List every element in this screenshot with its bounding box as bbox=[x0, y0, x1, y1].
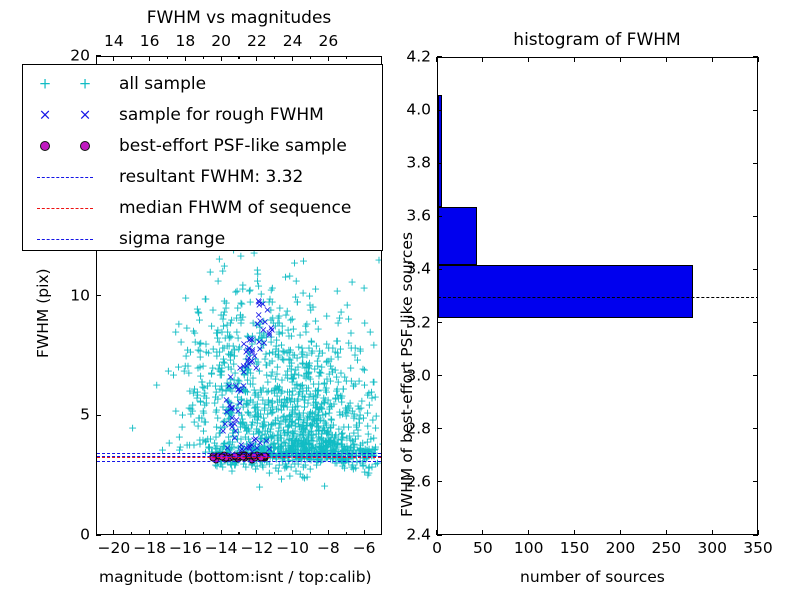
left-xtick-minor bbox=[203, 532, 204, 535]
scatter-point-all-sample: + bbox=[181, 360, 190, 371]
scatter-point-all-sample: + bbox=[251, 402, 260, 413]
right-ytick-mirror bbox=[753, 534, 758, 535]
left-xtick-top-minor bbox=[274, 56, 275, 59]
left-xtick-bottom bbox=[149, 530, 150, 535]
scatter-point-all-sample: + bbox=[253, 265, 262, 276]
left-xtick-top-minor bbox=[203, 56, 204, 59]
right-ytick bbox=[437, 56, 442, 57]
scatter-point-rough-sample: × bbox=[250, 436, 258, 446]
right-ytick bbox=[437, 534, 442, 535]
scatter-point-all-sample: + bbox=[339, 384, 348, 395]
left-xtick-label: −6 bbox=[353, 541, 376, 557]
left-xtick-top-label: 14 bbox=[104, 34, 124, 50]
scatter-point-all-sample: + bbox=[194, 412, 203, 423]
right-xtick bbox=[712, 530, 713, 535]
right-ytick-mirror bbox=[753, 269, 758, 270]
left-xtick-label: −20 bbox=[98, 541, 131, 557]
left-y-axis-label: FWHM (pix) bbox=[34, 268, 52, 358]
scatter-point-all-sample: + bbox=[268, 395, 277, 406]
scatter-point-rough-sample: × bbox=[255, 298, 263, 308]
left-xtick-label: −8 bbox=[317, 541, 340, 557]
left-xtick-top bbox=[328, 56, 329, 61]
scatter-point-all-sample: + bbox=[203, 380, 212, 391]
scatter-point-all-sample: + bbox=[195, 439, 204, 450]
left-xtick-bottom bbox=[221, 530, 222, 535]
scatter-point-all-sample: + bbox=[218, 266, 227, 277]
legend-entry[interactable]: resultant FWHM: 3.32 bbox=[23, 161, 382, 192]
scatter-point-all-sample: + bbox=[204, 348, 213, 359]
scatter-point-all-sample: + bbox=[346, 328, 355, 339]
scatter-point-all-sample: + bbox=[315, 426, 324, 437]
right-ytick-mirror bbox=[753, 322, 758, 323]
legend-entry-label: best-effort PSF-like sample bbox=[119, 136, 347, 156]
right-ytick-mirror bbox=[753, 110, 758, 111]
scatter-point-all-sample: + bbox=[255, 481, 264, 492]
left-xtick-top-label: 22 bbox=[247, 34, 267, 50]
scatter-point-all-sample: + bbox=[184, 402, 193, 413]
left-xtick-label: −18 bbox=[133, 541, 166, 557]
left-xtick-top-minor bbox=[131, 56, 132, 59]
right-xtick bbox=[666, 530, 667, 535]
scatter-point-all-sample: + bbox=[279, 436, 288, 447]
legend-entry-label: sigma range bbox=[119, 229, 225, 249]
left-ytick bbox=[96, 415, 101, 416]
left-ytick-label: 20 bbox=[56, 48, 90, 64]
left-xtick-top bbox=[149, 56, 150, 61]
scatter-point-all-sample: + bbox=[236, 298, 245, 309]
scatter-point-all-sample: + bbox=[299, 255, 308, 266]
right-xtick bbox=[574, 530, 575, 535]
right-ytick-mirror bbox=[753, 216, 758, 217]
scatter-point-all-sample: + bbox=[344, 421, 353, 432]
scatter-point-all-sample: + bbox=[288, 415, 297, 426]
legend-entry[interactable]: ++all sample bbox=[23, 68, 382, 99]
right-xtick-top bbox=[528, 57, 529, 62]
scatter-point-all-sample: + bbox=[282, 394, 291, 405]
right-ytick bbox=[437, 216, 442, 217]
right-xtick-label: 100 bbox=[514, 541, 544, 557]
scatter-point-all-sample: + bbox=[288, 349, 297, 360]
scatter-point-all-sample: + bbox=[226, 318, 235, 329]
right-ytick bbox=[437, 375, 442, 376]
scatter-point-all-sample: + bbox=[208, 304, 217, 315]
scatter-point-rough-sample: × bbox=[227, 420, 235, 430]
legend-entry[interactable]: median FHWM of sequence bbox=[23, 192, 382, 223]
right-ytick-label: 2.4 bbox=[389, 527, 431, 543]
scatter-point-all-sample: + bbox=[322, 338, 331, 349]
right-xtick-top bbox=[712, 57, 713, 62]
scatter-point-all-sample: + bbox=[236, 314, 245, 325]
scatter-point-all-sample: + bbox=[366, 327, 375, 338]
scatter-point-all-sample: + bbox=[262, 369, 271, 380]
right-ytick-label: 3.8 bbox=[389, 155, 431, 171]
right-ytick-mirror bbox=[753, 428, 758, 429]
scatter-point-all-sample: + bbox=[365, 400, 374, 411]
scatter-point-all-sample: + bbox=[223, 341, 232, 352]
right-plot-data-area bbox=[438, 58, 757, 534]
sigma-range-lower-line bbox=[97, 461, 381, 462]
scatter-point-all-sample: + bbox=[257, 387, 266, 398]
left-xtick-bottom bbox=[292, 530, 293, 535]
left-xtick-bottom bbox=[113, 530, 114, 535]
scatter-point-all-sample: + bbox=[306, 305, 315, 316]
scatter-point-all-sample: + bbox=[293, 297, 302, 308]
scatter-point-all-sample: + bbox=[359, 282, 368, 293]
left-xtick-minor bbox=[310, 532, 311, 535]
legend-circle-icon bbox=[40, 141, 50, 151]
right-ytick bbox=[437, 163, 442, 164]
scatter-point-all-sample: + bbox=[169, 370, 178, 381]
right-xtick-label: 300 bbox=[697, 541, 727, 557]
right-xtick-label: 250 bbox=[651, 541, 681, 557]
legend-entry-label: sample for rough FWHM bbox=[119, 105, 324, 125]
legend-cross-icon: × bbox=[79, 107, 92, 122]
scatter-point-all-sample: + bbox=[194, 307, 203, 318]
scatter-point-all-sample: + bbox=[181, 293, 190, 304]
left-ytick-label: 10 bbox=[56, 288, 90, 304]
left-ytick-label: 5 bbox=[56, 408, 90, 424]
scatter-point-all-sample: + bbox=[238, 280, 247, 291]
legend-entry[interactable]: ××sample for rough FWHM bbox=[23, 99, 382, 130]
scatter-point-all-sample: + bbox=[185, 385, 194, 396]
right-xtick-top bbox=[482, 57, 483, 62]
scatter-point-all-sample: + bbox=[128, 423, 137, 434]
right-xtick-label: 200 bbox=[606, 541, 636, 557]
right-ytick bbox=[437, 269, 442, 270]
scatter-point-all-sample: + bbox=[333, 438, 342, 449]
left-xtick-bottom bbox=[328, 530, 329, 535]
histogram-bar bbox=[438, 207, 477, 265]
scatter-point-all-sample: + bbox=[302, 318, 311, 329]
left-xtick-label: −16 bbox=[169, 541, 202, 557]
legend-cross-icon: × bbox=[39, 107, 52, 122]
scatter-point-all-sample: + bbox=[333, 286, 342, 297]
scatter-point-all-sample: + bbox=[189, 325, 198, 336]
scatter-point-all-sample: + bbox=[314, 350, 323, 361]
scatter-point-all-sample: + bbox=[322, 310, 331, 321]
scatter-point-all-sample: + bbox=[290, 257, 299, 268]
scatter-point-all-sample: + bbox=[309, 400, 318, 411]
scatter-point-rough-sample: × bbox=[236, 399, 244, 409]
scatter-point-all-sample: + bbox=[369, 339, 378, 350]
scatter-point-all-sample: + bbox=[350, 410, 359, 421]
scatter-point-all-sample: + bbox=[343, 299, 352, 310]
right-ytick-mirror bbox=[753, 375, 758, 376]
scatter-point-all-sample: + bbox=[221, 303, 230, 314]
left-xtick-bottom bbox=[185, 530, 186, 535]
left-xtick-minor bbox=[238, 532, 239, 535]
left-xtick-top bbox=[113, 56, 114, 61]
right-x-axis-label: number of sources bbox=[520, 568, 665, 586]
right-ytick-label: 2.6 bbox=[389, 474, 431, 490]
scatter-point-all-sample: + bbox=[178, 422, 187, 433]
right-ytick-label: 4.0 bbox=[389, 102, 431, 118]
scatter-point-all-sample: + bbox=[311, 284, 320, 295]
right-xtick-top bbox=[757, 57, 758, 62]
right-ytick bbox=[437, 322, 442, 323]
scatter-point-all-sample: + bbox=[369, 445, 378, 456]
scatter-point-all-sample: + bbox=[278, 328, 287, 339]
right-ytick bbox=[437, 481, 442, 482]
left-ytick bbox=[96, 534, 101, 535]
legend-entry-label: all sample bbox=[119, 74, 206, 94]
left-xtick-minor bbox=[346, 532, 347, 535]
left-xtick-top bbox=[292, 56, 293, 61]
right-ytick-mirror bbox=[753, 56, 758, 57]
left-xtick-top bbox=[185, 56, 186, 61]
legend-box[interactable]: ++all sample××sample for rough FWHMbest-… bbox=[22, 64, 383, 251]
right-xtick-top bbox=[666, 57, 667, 62]
right-plot-axes[interactable] bbox=[437, 57, 758, 535]
left-ytick-label: 0 bbox=[56, 527, 90, 543]
right-ytick bbox=[437, 110, 442, 111]
right-ytick-mirror bbox=[753, 163, 758, 164]
left-xtick-label: −10 bbox=[276, 541, 309, 557]
scatter-point-rough-sample: × bbox=[263, 306, 271, 316]
scatter-point-all-sample: + bbox=[300, 473, 309, 484]
left-ytick bbox=[96, 55, 101, 56]
legend-dashed-line-icon bbox=[37, 177, 93, 178]
scatter-point-all-sample: + bbox=[296, 437, 305, 448]
scatter-point-all-sample: + bbox=[320, 480, 329, 491]
scatter-point-all-sample: + bbox=[152, 379, 161, 390]
right-ytick-label: 3.6 bbox=[389, 209, 431, 225]
scatter-point-all-sample: + bbox=[185, 440, 194, 451]
scatter-point-all-sample: + bbox=[340, 372, 349, 383]
left-xtick-label: −12 bbox=[241, 541, 274, 557]
scatter-point-all-sample: + bbox=[286, 315, 295, 326]
scatter-point-rough-sample: × bbox=[248, 346, 256, 356]
left-xtick-bottom bbox=[256, 530, 257, 535]
right-xtick-label: 150 bbox=[560, 541, 590, 557]
scatter-point-rough-sample: × bbox=[236, 364, 244, 374]
left-xtick-minor bbox=[274, 532, 275, 535]
left-plot-title: FWHM vs magnitudes bbox=[147, 8, 332, 28]
scatter-point-rough-sample: × bbox=[225, 382, 233, 392]
scatter-point-all-sample: + bbox=[314, 384, 323, 395]
legend-dashed-line-icon bbox=[37, 208, 93, 209]
left-xtick-top-minor bbox=[238, 56, 239, 59]
legend-entry[interactable]: best-effort PSF-like sample bbox=[23, 130, 382, 161]
scatter-point-all-sample: + bbox=[298, 420, 307, 431]
scatter-point-all-sample: + bbox=[360, 365, 369, 376]
scatter-point-all-sample: + bbox=[364, 468, 373, 479]
left-xtick-top-label: 20 bbox=[211, 34, 231, 50]
sigma-range-upper-line bbox=[97, 453, 381, 454]
scatter-point-all-sample: + bbox=[348, 277, 357, 288]
histogram-median-line bbox=[438, 297, 757, 298]
right-ytick-label: 3.4 bbox=[389, 262, 431, 278]
right-plot-title: histogram of FWHM bbox=[513, 30, 680, 50]
left-ytick bbox=[96, 295, 101, 296]
legend-circle-icon bbox=[80, 141, 90, 151]
scatter-point-rough-sample: × bbox=[236, 387, 244, 397]
left-xtick-label: −14 bbox=[205, 541, 238, 557]
right-xtick-top bbox=[620, 57, 621, 62]
legend-plus-icon: + bbox=[39, 76, 52, 91]
scatter-point-rough-sample: × bbox=[260, 339, 268, 349]
right-xtick bbox=[528, 530, 529, 535]
scatter-point-all-sample: + bbox=[363, 420, 372, 431]
right-ytick-label: 3.2 bbox=[389, 315, 431, 331]
scatter-point-all-sample: + bbox=[316, 367, 325, 378]
legend-entry[interactable]: sigma range bbox=[23, 223, 382, 254]
scatter-point-all-sample: + bbox=[193, 362, 202, 373]
left-x-axis-label: magnitude (bottom:isnt / top:calib) bbox=[99, 568, 372, 586]
right-xtick-label: 0 bbox=[432, 541, 442, 557]
scatter-point-all-sample: + bbox=[349, 380, 358, 391]
scatter-point-all-sample: + bbox=[268, 283, 277, 294]
scatter-point-all-sample: + bbox=[350, 349, 359, 360]
right-ytick-mirror bbox=[753, 481, 758, 482]
left-xtick-top-minor bbox=[310, 56, 311, 59]
legend-entry-label: resultant FWHM: 3.32 bbox=[119, 167, 303, 187]
right-xtick-top bbox=[436, 57, 437, 62]
legend-entry-label: median FHWM of sequence bbox=[119, 198, 351, 218]
left-xtick-top-label: 16 bbox=[140, 34, 160, 50]
scatter-point-all-sample: + bbox=[356, 445, 365, 456]
left-xtick-top-label: 24 bbox=[283, 34, 303, 50]
scatter-point-all-sample: + bbox=[177, 337, 186, 348]
left-xtick-top-label: 18 bbox=[176, 34, 196, 50]
scatter-point-all-sample: + bbox=[285, 270, 294, 281]
scatter-point-all-sample: + bbox=[304, 367, 313, 378]
right-xtick-label: 50 bbox=[473, 541, 493, 557]
right-xtick bbox=[620, 530, 621, 535]
scatter-point-all-sample: + bbox=[202, 397, 211, 408]
scatter-point-all-sample: + bbox=[165, 437, 174, 448]
right-ytick bbox=[437, 428, 442, 429]
left-xtick-top bbox=[256, 56, 257, 61]
histogram-bar bbox=[438, 95, 442, 207]
right-ytick-label: 4.2 bbox=[389, 49, 431, 65]
scatter-point-all-sample: + bbox=[265, 467, 274, 478]
median-fhwm-line bbox=[97, 457, 381, 458]
left-xtick-top-minor bbox=[167, 56, 168, 59]
scatter-point-all-sample: + bbox=[215, 360, 224, 371]
right-xtick-label: 350 bbox=[743, 541, 773, 557]
figure-canvas: FWHM vs magnitudes +++++++++++++++++++++… bbox=[0, 0, 800, 600]
left-xtick-top-minor bbox=[346, 56, 347, 59]
scatter-point-all-sample: + bbox=[212, 405, 221, 416]
scatter-point-all-sample: + bbox=[295, 383, 304, 394]
scatter-point-all-sample: + bbox=[196, 345, 205, 356]
scatter-point-rough-sample: × bbox=[237, 441, 245, 451]
scatter-point-all-sample: + bbox=[171, 405, 180, 416]
right-ytick-label: 3.0 bbox=[389, 368, 431, 384]
scatter-point-all-sample: + bbox=[206, 267, 215, 278]
legend-plus-icon: + bbox=[79, 76, 92, 91]
right-ytick-label: 2.8 bbox=[389, 421, 431, 437]
scatter-point-all-sample: + bbox=[175, 445, 184, 456]
scatter-point-all-sample: + bbox=[372, 410, 381, 421]
left-xtick-top bbox=[221, 56, 222, 61]
histogram-bar bbox=[438, 265, 693, 318]
right-xtick-top bbox=[574, 57, 575, 62]
left-xtick-minor bbox=[167, 532, 168, 535]
scatter-point-rough-sample: × bbox=[256, 317, 264, 327]
scatter-point-all-sample: + bbox=[338, 409, 347, 420]
scatter-point-all-sample: + bbox=[258, 419, 267, 430]
legend-dashdot-line-icon bbox=[37, 239, 93, 240]
right-xtick bbox=[482, 530, 483, 535]
left-xtick-bottom bbox=[364, 530, 365, 535]
left-xtick-top-label: 26 bbox=[319, 34, 339, 50]
left-xtick-minor bbox=[131, 532, 132, 535]
scatter-point-rough-sample: × bbox=[226, 373, 234, 383]
scatter-point-all-sample: + bbox=[334, 318, 343, 329]
